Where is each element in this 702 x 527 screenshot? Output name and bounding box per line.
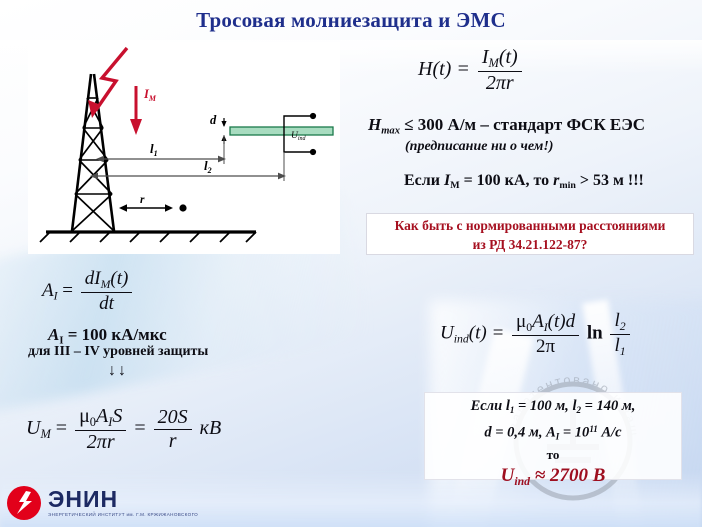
result-d-value: = 0,4 м,	[495, 424, 542, 440]
hmax-statement: Hmax ≤ 300 А/м – стандарт ФСК ЕЭС	[368, 115, 645, 136]
formula-um-equals-2: =	[134, 417, 145, 439]
enin-logo-subtitle: ЭНЕРГЕТИЧЕСКИЙ ИНСТИТУТ им. Г.М. КРЖИЖАН…	[48, 513, 198, 518]
formula-uind-num-tail: (t)d	[548, 311, 575, 332]
slide-canvas: Тросовая молниезащита и ЭМС	[0, 0, 702, 527]
formula-h-denominator: 2πr	[478, 71, 522, 95]
formula-ai-fraction: dIM(t) dt	[81, 268, 133, 315]
formula-ai-denominator: dt	[81, 292, 133, 315]
formula-ai-numerator: dIM(t)	[81, 268, 133, 292]
result-final-symbol: U	[501, 465, 515, 486]
formula-ai-equals: =	[62, 280, 73, 301]
result-l2-sub: 2	[576, 405, 581, 415]
enin-logo-text: ЭНИН ЭНЕРГЕТИЧЕСКИЙ ИНСТИТУТ им. Г.М. КР…	[48, 488, 198, 518]
formula-h-numerator: IM(t)	[478, 46, 522, 71]
formula-uind-log-den: l1	[610, 334, 629, 359]
formula-ai-lhs: A	[42, 280, 54, 301]
formula-h-lhs: H(t) =	[418, 58, 470, 80]
result-prefix: Если	[471, 398, 503, 414]
distance-l1-label: l1	[150, 141, 158, 158]
hmax-statement-text: ≤ 300 А/м – стандарт ФСК ЕЭС	[404, 115, 645, 134]
result-final-value: Uind ≈ 2700 В	[425, 464, 681, 494]
formula-uind-fraction: μ0AI(t)d 2π	[512, 311, 579, 358]
formula-uind-den: 2π	[512, 335, 579, 358]
formula-ai-num-sub: M	[101, 278, 111, 291]
formula-h-num-sub: M	[489, 56, 499, 70]
result-l2-value: = 140 м,	[585, 398, 636, 414]
condition-current-sub: М	[450, 180, 459, 191]
result-a-sub: I	[556, 431, 560, 441]
formula-uind-lhs: U	[440, 323, 454, 344]
formula-ai-num-symbol: dI	[85, 268, 101, 289]
result-a-value: = 10	[563, 424, 589, 440]
formula-um-num-2: 20S	[154, 406, 192, 429]
condition-current-value: = 100 кА, то	[464, 172, 550, 189]
result-l1-sub: 1	[510, 405, 515, 415]
condition-prefix: Если	[404, 172, 440, 189]
result-a-exponent: 11	[589, 424, 598, 434]
formula-um-num-1: μ0AIS	[75, 405, 126, 430]
distance-l2-label: l2	[204, 158, 212, 175]
formula-uind-ln: ln	[587, 323, 603, 344]
radius-condition: Если IМ = 100 кА, то rmin > 53 м !!!	[404, 172, 644, 191]
formula-uind-lhs-tail: (t) =	[469, 323, 505, 344]
page-title: Тросовая молниезащита и ЭМС	[0, 8, 702, 33]
formula-uind-l2-sub: 2	[620, 320, 626, 333]
question-line-2: из РД 34.21.122-87?	[367, 235, 693, 254]
hmax-symbol: H	[368, 115, 381, 134]
formula-uind-lhs-sub: ind	[454, 332, 469, 345]
result-then-label: то	[425, 446, 681, 463]
condition-radius-value: > 53 м !!!	[580, 172, 644, 189]
formula-h-num-tail: (t)	[499, 46, 518, 68]
formula-uind-mu: μ	[516, 311, 526, 332]
result-d: d	[484, 424, 491, 440]
formula-um-a: A	[96, 405, 108, 427]
formula-um-lhs: U	[26, 417, 40, 439]
formula-uind-num: μ0AI(t)d	[512, 311, 579, 335]
formula-uind-log-num: l2	[610, 310, 629, 334]
distance-r-dimension	[119, 204, 187, 211]
distance-l2-dimension	[90, 152, 286, 181]
formula-um-fraction-2: 20S r	[154, 406, 192, 453]
formula-h-fraction: IM(t) 2πr	[478, 46, 522, 95]
hmax-symbol-sub: max	[381, 125, 400, 136]
distance-r-label: r	[140, 194, 145, 206]
result-a-unit: А/с	[601, 424, 621, 440]
ground-line	[40, 232, 256, 242]
enin-logo: ЭНИН ЭНЕРГЕТИЧЕСКИЙ ИНСТИТУТ им. Г.М. КР…	[6, 482, 178, 524]
result-line-2: d = 0,4 м, AI = 1011 А/с	[425, 420, 681, 446]
current-label: IM	[143, 87, 157, 103]
formula-uind-log-fraction: l2 l1	[610, 310, 629, 359]
enin-logo-name: ЭНИН	[48, 488, 198, 511]
thickness-label: d	[210, 113, 217, 127]
enin-logo-mark-icon	[6, 485, 42, 521]
result-callout-box: Если l1 = 100 м, l2 = 140 м, d = 0,4 м, …	[424, 392, 682, 480]
formula-ai-num-tail: (t)	[110, 268, 128, 289]
formula-magnetic-field: H(t) = IM(t) 2πr	[418, 46, 525, 95]
formula-um-s: S	[112, 405, 122, 427]
formula-um-equals-1: =	[56, 417, 67, 439]
result-final-number: ≈ 2700 В	[535, 465, 606, 486]
question-line-1: Как быть с нормированными расстояниями	[367, 216, 693, 235]
formula-um-lhs-sub: M	[40, 427, 50, 441]
transmission-tower	[72, 74, 114, 231]
formula-induced-voltage: Uind(t) = μ0AI(t)d 2π ln l2 l1	[440, 310, 633, 359]
result-line-1: Если l1 = 100 м, l2 = 140 м,	[425, 397, 681, 420]
result-final-sub: ind	[514, 475, 530, 488]
formula-um-mu: μ	[79, 405, 90, 427]
formula-um-den-2: r	[154, 429, 192, 453]
formula-uind-a: A	[532, 311, 544, 332]
formula-um-den-1: 2πr	[75, 430, 126, 454]
result-a: A	[546, 424, 556, 440]
lightning-protection-diagram: IM d Uind	[28, 42, 340, 254]
formula-current-steepness: AI = dIM(t) dt	[42, 268, 135, 315]
ai-value-number: = 100 кА/мкс	[68, 325, 167, 344]
formula-voltage-um: UM = μ0AIS 2πr = 20S r кВ	[26, 405, 221, 454]
condition-radius-sub: min	[559, 180, 576, 191]
hmax-note: (предписание ни о чем!)	[405, 139, 553, 155]
question-callout-box: Как быть с нормированными расстояниями и…	[366, 213, 694, 255]
formula-um-fraction-1: μ0AIS 2πr	[75, 405, 126, 454]
ai-value-symbol: A	[48, 325, 59, 344]
formula-h-num-symbol: I	[482, 46, 489, 68]
formula-uind-l1-sub: 1	[620, 345, 626, 358]
down-arrows-icon: ↓↓	[108, 362, 128, 380]
ai-protection-levels: для III – IV уровней защиты	[28, 344, 208, 360]
current-arrow	[130, 86, 142, 135]
formula-um-unit: кВ	[200, 417, 222, 439]
shield-wire	[230, 127, 333, 135]
result-l1-value: = 100 м,	[518, 398, 569, 414]
formula-ai-lhs-sub: I	[54, 290, 58, 303]
